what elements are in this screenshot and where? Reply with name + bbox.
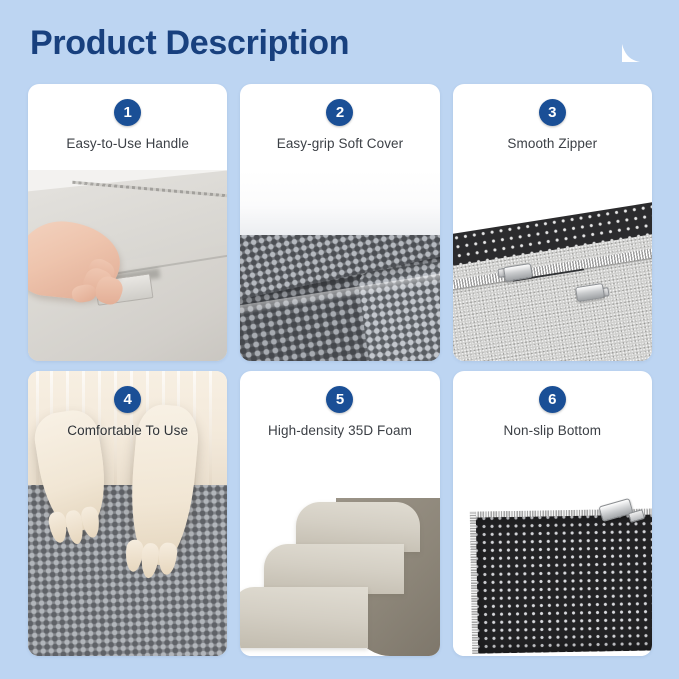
card-header-6: 6 Non-slip Bottom [453, 371, 652, 438]
card-label-1: Easy-to-Use Handle [28, 136, 227, 151]
card-photo-dog-paws [28, 371, 227, 656]
card-label-2: Easy-grip Soft Cover [240, 136, 439, 151]
card-photo-nonslip-bottom [453, 463, 652, 656]
card-badge-2: 2 [326, 99, 353, 126]
card-badge-3: 3 [539, 99, 566, 126]
page-title: Product Description [30, 24, 349, 63]
page-fold-decoration-icon [620, 42, 642, 64]
card-photo-zipper [453, 176, 652, 361]
card-header-1: 1 Easy-to-Use Handle [28, 84, 227, 151]
product-description-infographic: Product Description 1 [0, 0, 679, 679]
feature-card-2[interactable]: 2 Easy-grip Soft Cover [240, 84, 439, 361]
header: Product Description [0, 0, 679, 84]
card-photo-handle [28, 170, 227, 361]
card-header-3: 3 Smooth Zipper [453, 84, 652, 151]
card-photo-foam-stairs [240, 463, 439, 656]
feature-card-3[interactable]: 3 Smooth Zipper [453, 84, 652, 361]
feature-card-5[interactable]: 5 High-density 35D Foam [240, 371, 439, 656]
card-header-5: 5 High-density 35D Foam [240, 371, 439, 438]
feature-card-6[interactable]: 6 Non-slip Bottom [453, 371, 652, 656]
card-label-6: Non-slip Bottom [453, 423, 652, 438]
card-photo-soft-cover [240, 170, 439, 361]
card-label-5: High-density 35D Foam [240, 423, 439, 438]
card-badge-1: 1 [114, 99, 141, 126]
card-label-3: Smooth Zipper [453, 136, 652, 151]
card-header-2: 2 Easy-grip Soft Cover [240, 84, 439, 151]
feature-card-grid: 1 Easy-to-Use Handle 2 Easy-grip Soft Co… [28, 84, 652, 656]
feature-card-1[interactable]: 1 Easy-to-Use Handle [28, 84, 227, 361]
feature-card-4[interactable]: 4 Comfortable To Use [28, 371, 227, 656]
card-badge-6: 6 [539, 386, 566, 413]
card-badge-5: 5 [326, 386, 353, 413]
